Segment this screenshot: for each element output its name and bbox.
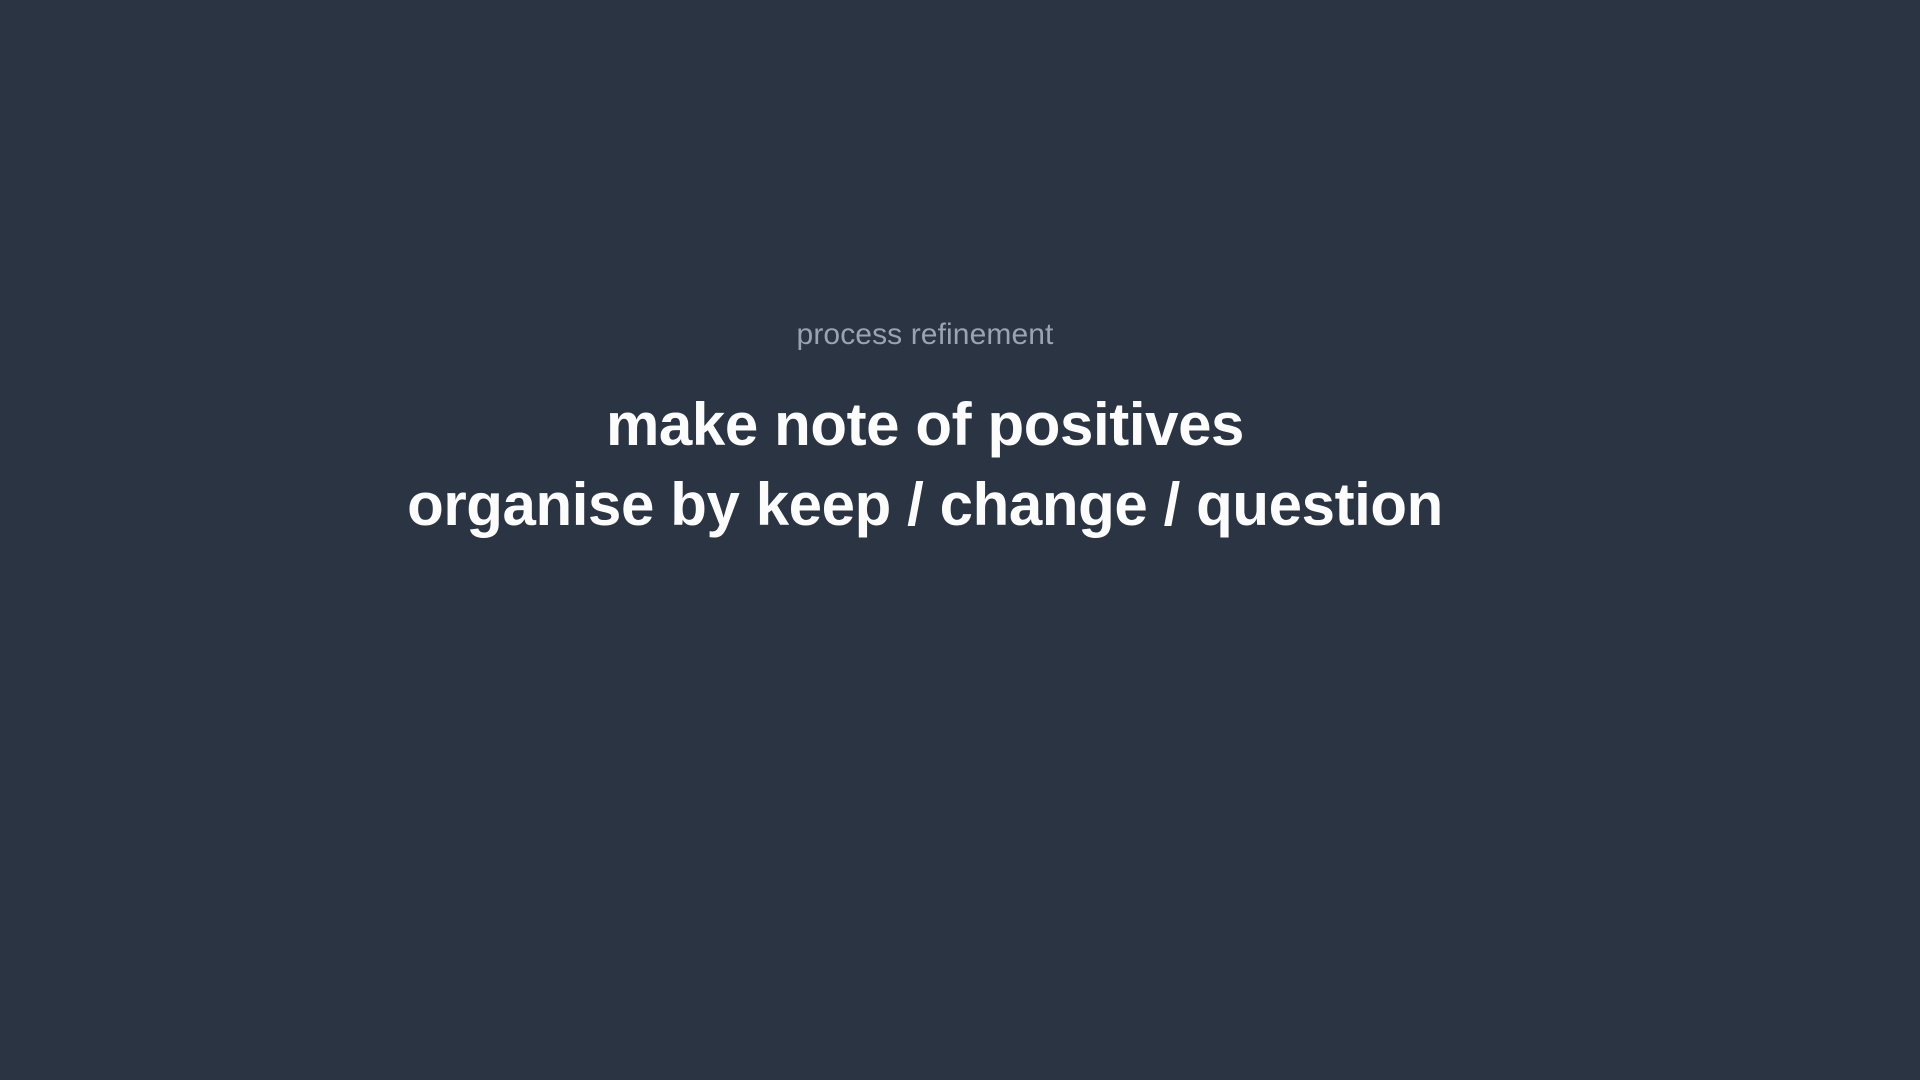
slide-eyebrow-label: process refinement xyxy=(0,318,1850,351)
slide-headline: make note of positives organise by keep … xyxy=(0,385,1850,545)
slide-content-block: process refinement make note of positive… xyxy=(0,318,1850,545)
headline-line-1: make note of positives xyxy=(0,385,1850,465)
headline-line-2: organise by keep / change / question xyxy=(0,465,1850,545)
presentation-slide: process refinement make note of positive… xyxy=(0,0,1920,1080)
